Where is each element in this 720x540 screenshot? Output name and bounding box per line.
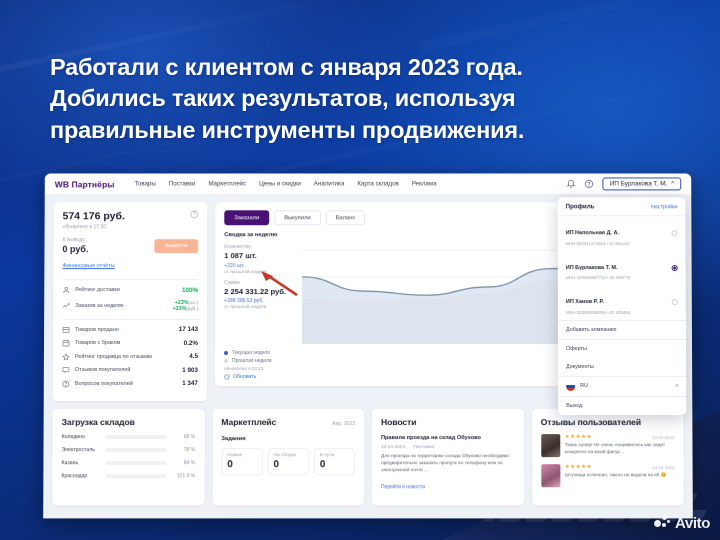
account-radio[interactable] <box>671 230 677 236</box>
marketplace-head: Маркетплейс Апр. 2023 <box>221 417 355 427</box>
metric-value: 100% <box>182 287 198 294</box>
star-icon <box>62 352 70 360</box>
metric-label: Вопросов покупателей <box>75 381 182 387</box>
legend-dot-current <box>224 351 228 355</box>
metric-value: 4.5 <box>189 353 198 360</box>
metric-label: Рейтинг доставки <box>75 287 182 293</box>
account-option[interactable]: ИП Напольная Д. А.ИНН 502911374024 • ID … <box>558 216 686 250</box>
dropdown-title: Профиль <box>566 203 595 210</box>
chevron-down-icon: ▾ <box>676 383 679 389</box>
help-icon[interactable] <box>585 179 594 188</box>
headline-line-3: правильные инструменты продвижения. <box>50 115 690 146</box>
warehouse-value: 84 % <box>171 460 195 466</box>
review-date: 13.04.2023 <box>652 465 675 470</box>
divider <box>62 319 198 320</box>
warehouse-load-card: Загрузка складов Коледино68 %Электростал… <box>52 409 204 505</box>
warehouse-name: Краснодар <box>61 473 105 479</box>
avito-watermark: Avito <box>654 515 710 532</box>
news-card-title: Новости <box>381 417 515 427</box>
profile-dropdown: Профиль Настройки ИП Напольная Д. А.ИНН … <box>558 197 687 414</box>
withdraw-row: К выводу 0 руб. Вывести <box>62 237 198 254</box>
marketplace-tiles: Новые 0 На сборке 0 В пути 0 <box>221 448 355 475</box>
financial-reports-link[interactable]: Финансовые отчёты <box>62 263 114 269</box>
account-switcher-button[interactable]: ИП Бурлакова Т. М. ^ <box>603 177 682 190</box>
review-text: Ткань супер! Не очень понравилось как си… <box>565 442 675 455</box>
tile-assembling[interactable]: На сборке 0 <box>267 448 308 475</box>
review-stars: ★★★★★ <box>565 434 592 440</box>
account-option[interactable]: ИП Ханов Р. Р.ИНН 023600055056 • ID 4254… <box>558 285 686 319</box>
metric-value: 1 903 <box>182 367 198 374</box>
avito-label: Avito <box>675 515 710 532</box>
balance-amount: 574 176 руб. <box>63 210 125 222</box>
tile-new[interactable]: Новые 0 <box>221 448 262 475</box>
withdraw-label: К выводу <box>62 237 88 243</box>
metric-value: 17 143 <box>179 326 198 333</box>
bottom-row: Загрузка складов Коледино68 %Электростал… <box>52 409 684 505</box>
metric-label: Товаров продано <box>75 327 179 333</box>
reviews-card: Отзывы пользователей ★★★★★ 13.04.2023 Тк… <box>532 409 684 505</box>
review-date: 13.04.2023 <box>652 435 675 440</box>
warehouse-card-title: Загрузка складов <box>62 417 196 427</box>
nav-item-goods[interactable]: Товары <box>135 180 156 187</box>
metric-value: 0.2% <box>184 340 198 347</box>
warehouse-name: Коледино <box>62 434 106 440</box>
metric-row: Рейтинг продавца по отзывам 4.5 <box>62 352 198 360</box>
warehouse-bar <box>106 435 167 439</box>
warehouse-name: Казань <box>61 460 105 466</box>
account-option-details: ИНН 502911374024 • ID 391162 <box>566 241 672 246</box>
account-radio[interactable] <box>672 299 678 305</box>
account-name: ИП Бурлакова Т. М. <box>610 180 668 187</box>
marketplace-card: Маркетплейс Апр. 2023 Задания Новые 0 На… <box>212 409 364 505</box>
account-option[interactable]: ИП Бурлакова Т. М.ИНН 420026887710 • ID … <box>558 251 686 285</box>
calendar-icon <box>62 339 70 347</box>
offers-item[interactable]: Оферты <box>558 340 686 358</box>
nav-links: Товары Поставки Маркетплейс Цены и скидк… <box>135 180 437 187</box>
marketplace-date: Апр. 2023 <box>332 421 355 427</box>
metric-value: 1 347 <box>182 380 198 387</box>
chart-summary: Сводка за неделю Количество 1 087 шт. +2… <box>224 232 302 344</box>
tile-in-transit[interactable]: В пути 0 <box>314 448 355 475</box>
question-circle-icon <box>62 380 70 388</box>
metric-label: Рейтинг продавца по отзывам <box>75 353 189 359</box>
review-item[interactable]: ★★★★★ 13.04.2023 Штучища отличная, таког… <box>541 464 675 487</box>
divider <box>62 279 198 280</box>
user-icon <box>62 286 70 294</box>
nav-item-marketplace[interactable]: Маркетплейс <box>208 180 246 187</box>
chat-icon <box>62 366 70 374</box>
page-title: Работали с клиентом с января 2023 года. … <box>50 52 690 146</box>
news-meta: 13.04.2023 Поставки <box>381 445 515 450</box>
quantity-delta: +220 шт. от прошлой недели <box>224 263 302 274</box>
headline-line-1: Работали с клиентом с января 2023 года. <box>50 52 690 83</box>
settings-link[interactable]: Настройки <box>651 204 677 210</box>
warehouse-row: Коледино68 % <box>62 434 196 440</box>
review-text: Штучища отличная, такого не видела на вб… <box>565 472 675 479</box>
warehouse-bar <box>105 474 166 478</box>
tab-ordered[interactable]: Заказали <box>224 210 269 225</box>
balance-stats-card: 574 176 руб. обновлено в 17:30 ? К вывод… <box>53 202 208 401</box>
news-item-title[interactable]: Правила проезда на склад Обухово <box>381 435 515 442</box>
nav-item-warehouse-map[interactable]: Карта складов <box>357 180 398 187</box>
review-stars: ★★★★★ <box>565 464 592 470</box>
sum-label: Сумма <box>224 280 302 286</box>
dashboard: WB Партнёры Товары Поставки Маркетплейс … <box>43 173 693 518</box>
language-selector[interactable]: RU ▾ <box>558 377 686 396</box>
account-list: ИП Напольная Д. А.ИНН 502911374024 • ID … <box>558 216 686 319</box>
warehouse-row: Казань84 % <box>61 460 195 466</box>
top-navigation: WB Партнёры Товары Поставки Маркетплейс … <box>45 173 692 195</box>
news-date: 13.04.2023 <box>381 445 405 450</box>
news-body: Для проезда на территорию склада Обухово… <box>381 454 515 475</box>
trend-icon <box>62 302 70 310</box>
headline-line-2: Добились таких результатов, используя <box>50 83 690 114</box>
language-label: RU <box>580 383 588 389</box>
warehouse-name: Электросталь <box>62 447 106 453</box>
reviews-card-title: Отзывы пользователей <box>541 417 675 427</box>
nav-item-supplies[interactable]: Поставки <box>169 180 196 187</box>
metric-row: Товаров продано 17 143 <box>62 326 198 334</box>
bg-streak <box>420 0 720 52</box>
sum-delta: +398 306.53 руб. от прошлой недели <box>224 298 302 309</box>
nav-item-prices[interactable]: Цены и скидки <box>259 180 301 187</box>
metric-label: Товаров с браком <box>75 340 184 346</box>
balance-updated: обновлено в 17:30 <box>63 224 125 230</box>
logout-item[interactable]: Выход <box>558 397 686 415</box>
account-option-name: ИП Напольная Д. А. <box>566 230 619 236</box>
refresh-icon <box>224 374 230 380</box>
account-option-name: ИП Бурлакова Т. М. <box>566 265 618 271</box>
warehouse-value: 68 % <box>171 434 195 440</box>
metric-label: Заказов за неделю <box>75 303 172 309</box>
withdraw-amount: 0 руб. <box>62 244 88 254</box>
warehouse-row: Краснодар101.9 % <box>61 473 195 479</box>
quantity-value: 1 087 шт. <box>224 251 302 260</box>
account-option-details: ИНН 023600055056 • ID 425450 <box>566 310 672 315</box>
sum-value: 2 254 331.22 руб. <box>224 287 302 296</box>
marketplace-card-title: Маркетплейс <box>221 417 276 427</box>
news-card: Новости Правила проезда на склад Обухово… <box>372 409 524 505</box>
question-icon[interactable]: ? <box>190 210 198 218</box>
metric-row: Отзывов покупателей 1 903 <box>62 366 198 374</box>
metric-label: Отзывов покупателей <box>75 367 182 373</box>
nav-item-analytics[interactable]: Аналитика <box>314 180 345 187</box>
tab-balance[interactable]: Баланс <box>326 210 366 225</box>
dropdown-header: Профиль Настройки <box>558 197 686 215</box>
account-radio[interactable] <box>672 265 678 271</box>
review-item[interactable]: ★★★★★ 13.04.2023 Ткань супер! Не очень п… <box>541 434 675 457</box>
quantity-label: Количество <box>224 244 302 250</box>
nav-right-group: ИП Бурлакова Т. М. ^ <box>567 177 681 190</box>
chevron-up-icon: ^ <box>671 180 674 187</box>
avito-dots-icon <box>654 515 671 532</box>
laptop-screen: WB Партнёры Товары Поставки Маркетплейс … <box>43 173 693 518</box>
brand-logo[interactable]: WB Партнёры <box>55 179 115 189</box>
metric-row: Товаров с браком 0.2% <box>62 339 198 347</box>
news-category: Поставки <box>413 445 434 450</box>
withdraw-button[interactable]: Вывести <box>154 239 198 253</box>
review-thumbnail <box>541 434 560 457</box>
nav-item-ads[interactable]: Реклама <box>412 180 437 187</box>
metric-row: Вопросов покупателей 1 347 <box>62 380 198 388</box>
warehouse-value: 101.9 % <box>171 473 195 479</box>
warehouse-value: 78 % <box>171 447 195 453</box>
flag-ru-icon <box>566 382 575 391</box>
account-option-details: ИНН 420026887710 • ID 409776 <box>566 275 672 280</box>
documents-item[interactable]: Документы <box>558 357 686 375</box>
legend-dot-previous <box>224 359 228 363</box>
marketplace-subtitle: Задания <box>221 436 355 442</box>
metric-row: Заказов за неделю +23%(шт.) +33%(руб.) <box>62 300 198 312</box>
review-thumbnail <box>541 464 560 487</box>
account-option-name: ИП Ханов Р. Р. <box>566 299 604 305</box>
warehouse-rows: Коледино68 %Электросталь78 %Казань84 %Кр… <box>61 434 195 479</box>
tab-purchased[interactable]: Выкупили <box>274 210 320 225</box>
metric-row: Рейтинг доставки 100% <box>62 286 198 294</box>
metric-value-secondary: +33%(руб.) <box>173 306 199 312</box>
box-icon <box>62 326 70 334</box>
warehouse-bar <box>106 448 167 452</box>
bell-icon[interactable] <box>567 179 576 188</box>
warehouse-row: Электросталь78 % <box>62 447 196 453</box>
balance-row: 574 176 руб. обновлено в 17:30 ? <box>63 210 199 230</box>
summary-title: Сводка за неделю <box>224 232 302 238</box>
news-link[interactable]: Перейти в новости <box>381 484 425 490</box>
warehouse-bar <box>106 461 167 465</box>
add-company-item[interactable]: Добавить компанию <box>558 321 686 339</box>
